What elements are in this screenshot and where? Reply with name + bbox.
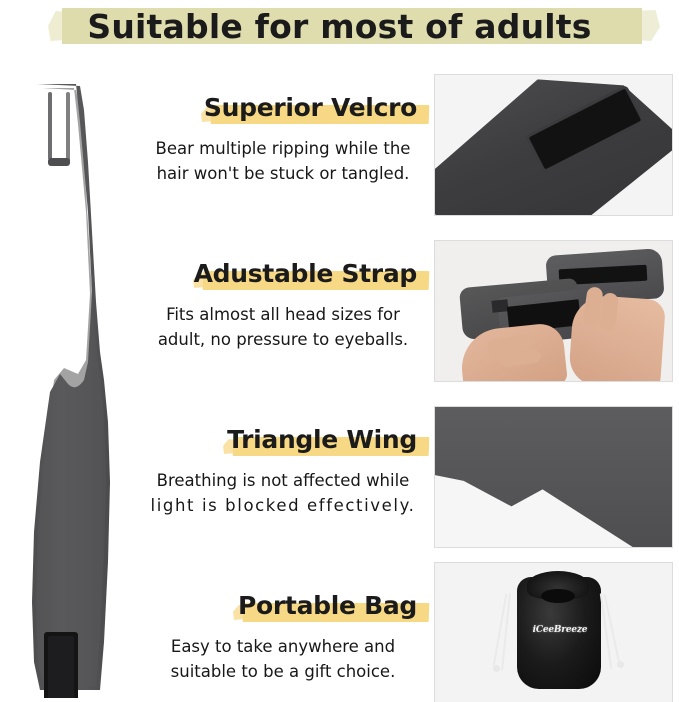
pouch-cinch [541,589,575,603]
page-title: Suitable for most of adults [0,0,679,52]
feature-description: Bear multiple ripping while the hair won… [135,136,431,186]
feature-block-triangle-wing: Triangle Wing Breathing is not affected … [135,420,431,518]
feature-description-line: Fits almost all head sizes for [135,302,431,327]
brand-logo-text: iCeeBreeze [525,625,595,635]
hands-holding-masks-photo [435,241,672,381]
feature-heading: Superior Velcro [204,93,417,122]
feature-description-line: light is blocked effectively. [135,493,431,518]
feature-image-triangle-wing [434,406,673,548]
feature-heading: Adustable Strap [194,259,417,288]
feature-image-adustable-strap [434,240,673,382]
drawstring-pouch-photo: iCeeBreeze [435,563,672,702]
drawstring-tip [617,661,624,668]
feature-block-adustable-strap: Adustable Strap Fits almost all head siz… [135,254,431,352]
feature-description-line: Easy to take anywhere and [135,634,431,659]
feature-description-line: adult, no pressure to eyeballs. [135,327,431,352]
feature-block-portable-bag: Portable Bag Easy to take anywhere and s… [135,586,431,684]
feature-heading-wrap: Superior Velcro [135,88,431,128]
page-title-band: Suitable for most of adults [0,0,679,60]
feature-image-portable-bag: iCeeBreeze [434,562,673,702]
feature-block-superior-velcro: Superior Velcro Bear multiple ripping wh… [135,88,431,186]
feature-description-line: suitable to be a gift choice. [135,659,431,684]
feature-description-line: Breathing is not affected while [135,468,431,493]
feature-description-line: hair won't be stuck or tangled. [135,161,431,186]
feature-description: Fits almost all head sizes for adult, no… [135,302,431,352]
feature-heading: Triangle Wing [227,425,417,454]
sleep-mask-strap-illustration [4,62,134,698]
feature-description-line: Bear multiple ripping while the [135,136,431,161]
feature-heading-wrap: Adustable Strap [135,254,431,294]
drawstring-tip [493,665,500,672]
feature-heading: Portable Bag [238,591,417,620]
feature-heading-wrap: Triangle Wing [135,420,431,460]
velcro-photo [435,75,672,215]
feature-heading-wrap: Portable Bag [135,586,431,626]
product-infographic: Suitable for most of adults [0,0,679,702]
feature-image-superior-velcro [434,74,673,216]
hero-product-image [4,62,134,698]
feature-description: Breathing is not affected while light is… [135,468,431,518]
feature-description: Easy to take anywhere and suitable to be… [135,634,431,684]
nose-notch-photo [435,407,672,547]
